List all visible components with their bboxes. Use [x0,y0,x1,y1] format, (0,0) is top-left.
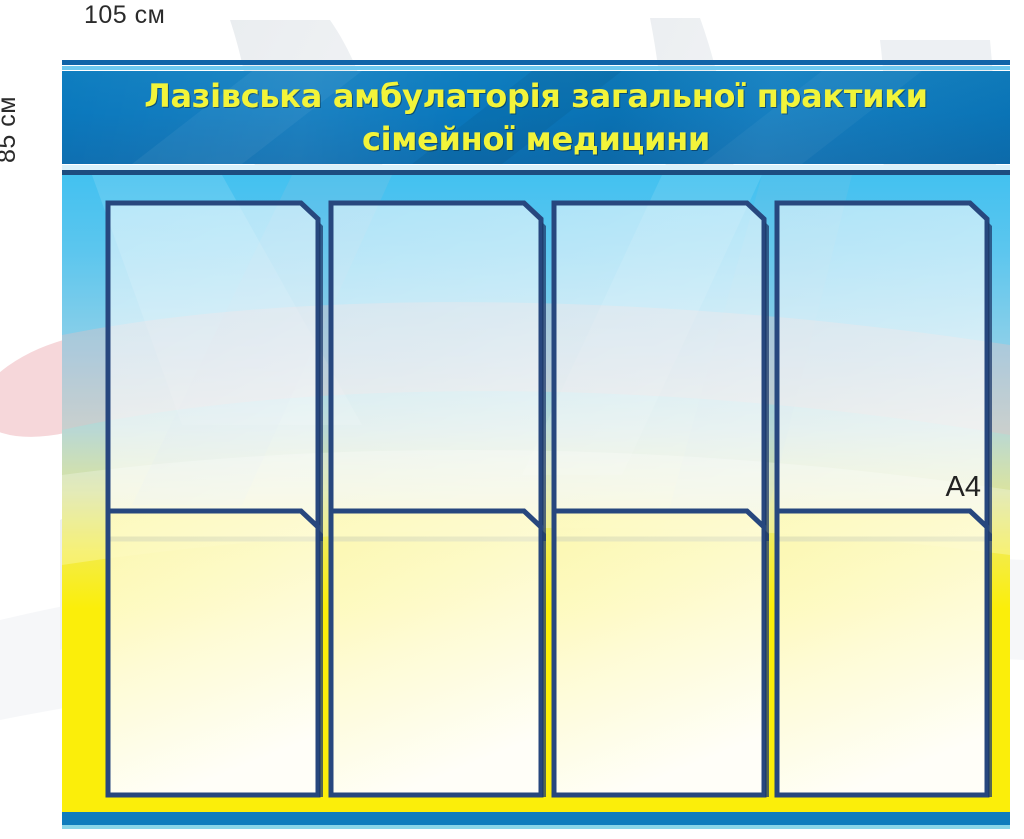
bottom-rail-edge [62,825,1010,829]
pocket-sheet [105,508,325,798]
pocket-sheet [105,200,325,542]
information-board: Лазівська амбулаторія загальної практики… [62,60,1010,830]
pocket-sheet [551,200,771,542]
pocket-sheet [551,508,771,798]
pocket-r2-c2[interactable] [328,508,548,798]
pocket-r2-c1[interactable] [105,508,325,798]
bottom-rail [62,812,1010,825]
board-title: Лазівська амбулаторія загальної практики… [62,75,1010,161]
pocket-r1-c1[interactable] [105,200,325,542]
pocket-r1-c3[interactable] [551,200,771,542]
pocket-sheet [328,200,548,542]
board-header-panel: Лазівська амбулаторія загальної практики… [62,71,1010,164]
pocket-sheet [328,508,548,798]
pocket-r2-c4[interactable] [774,508,994,798]
board-title-line-2: сімейної медицини [62,118,1010,161]
pocket-r1-c4[interactable]: A4 [774,200,994,542]
top-rail-dark [62,60,1010,65]
top-rail-light [62,66,1010,70]
board-height-dimension-label: 85 см [0,96,22,163]
pocket-r2-c3[interactable] [551,508,771,798]
pocket-sheet [774,508,994,798]
pocket-r1-c2[interactable] [328,200,548,542]
board-width-dimension-label: 105 см [84,1,165,30]
board-title-line-1: Лазівська амбулаторія загальної практики [62,75,1010,118]
pocket-size-label: A4 [946,471,981,504]
